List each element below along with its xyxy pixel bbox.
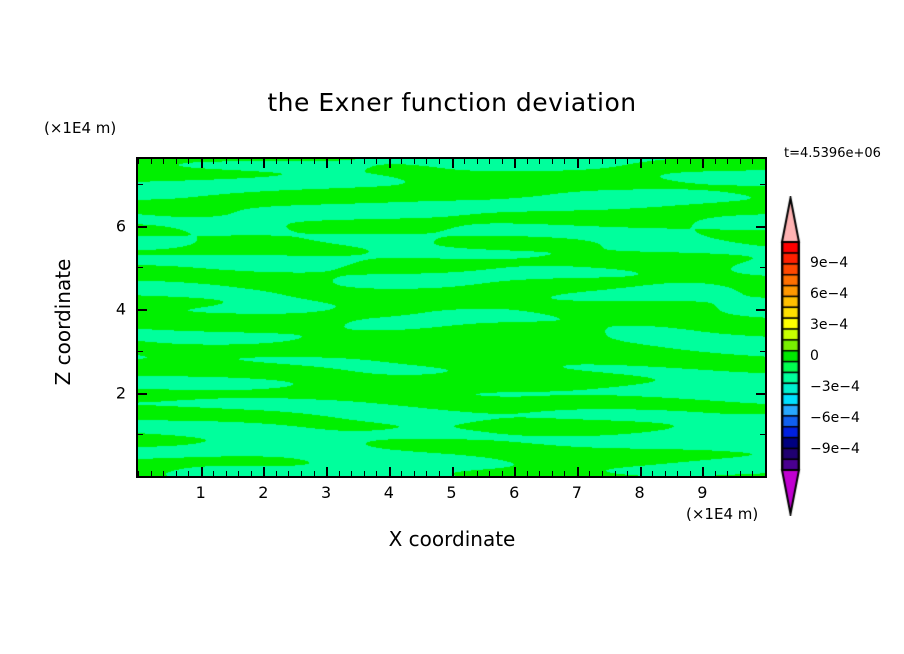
x-axis-top-minor-tick [665,159,666,164]
x-axis-top-major-tick [514,159,516,168]
x-axis-minor-tick [727,471,728,476]
y-axis-tick-label: 6 [100,216,126,235]
x-axis-top-minor-tick [652,159,653,164]
x-axis-major-tick [326,467,328,476]
x-axis-minor-tick [339,471,340,476]
y-axis-right-major-tick [756,393,765,395]
x-axis-top-minor-tick [226,159,227,164]
x-axis-minor-tick [602,471,603,476]
x-axis-top-major-tick [640,159,642,168]
x-axis-minor-tick [364,471,365,476]
y-axis-unit-label: (×1E4 m) [44,119,116,137]
x-axis-top-minor-tick [740,159,741,164]
x-axis-minor-tick [527,471,528,476]
x-axis-minor-tick [176,471,177,476]
x-axis-top-minor-tick [752,159,753,164]
y-axis-right-minor-tick [760,184,765,185]
colorbar [775,196,807,516]
x-axis-minor-tick [752,471,753,476]
x-axis-minor-tick [376,471,377,476]
x-axis-top-major-tick [263,159,265,168]
x-axis-top-minor-tick [564,159,565,164]
x-axis-minor-tick [615,471,616,476]
y-axis-title: Z coordinate [51,232,75,412]
x-axis-tick-label: 2 [258,483,268,502]
x-axis-minor-tick [715,471,716,476]
x-axis-top-minor-tick [288,159,289,164]
x-axis-minor-tick [665,471,666,476]
contour-plot-area [136,157,767,478]
x-axis-major-tick [201,467,203,476]
x-axis-tick-label: 1 [196,483,206,502]
x-axis-top-minor-tick [715,159,716,164]
x-axis-major-tick [577,467,579,476]
x-axis-unit-label: (×1E4 m) [686,505,758,523]
x-axis-minor-tick [552,471,553,476]
x-axis-minor-tick [627,471,628,476]
x-axis-tick-label: 7 [572,483,582,502]
x-axis-top-minor-tick [426,159,427,164]
x-axis-top-minor-tick [552,159,553,164]
x-axis-minor-tick [439,471,440,476]
x-axis-top-major-tick [326,159,328,168]
x-axis-minor-tick [589,471,590,476]
x-axis-top-minor-tick [602,159,603,164]
x-axis-top-minor-tick [213,159,214,164]
x-axis-top-minor-tick [527,159,528,164]
y-axis-right-minor-tick [760,351,765,352]
colorbar-tick-label: −9e−4 [810,441,860,457]
x-axis-tick-label: 8 [635,483,645,502]
x-axis-top-minor-tick [176,159,177,164]
x-axis-minor-tick [426,471,427,476]
x-axis-top-minor-tick [464,159,465,164]
x-axis-top-minor-tick [539,159,540,164]
x-axis-top-minor-tick [477,159,478,164]
x-axis-minor-tick [690,471,691,476]
x-axis-minor-tick [314,471,315,476]
x-axis-top-minor-tick [627,159,628,164]
x-axis-top-minor-tick [163,159,164,164]
x-axis-major-tick [702,467,704,476]
x-axis-top-minor-tick [376,159,377,164]
x-axis-minor-tick [464,471,465,476]
y-axis-right-minor-tick [760,267,765,268]
x-axis-top-major-tick [577,159,579,168]
x-axis-top-minor-tick [188,159,189,164]
x-axis-top-minor-tick [439,159,440,164]
x-axis-top-minor-tick [351,159,352,164]
colorbar-tick-label: 6e−4 [810,286,848,302]
x-axis-minor-tick [677,471,678,476]
x-axis-minor-tick [652,471,653,476]
x-axis-minor-tick [740,471,741,476]
y-axis-minor-tick [138,476,143,477]
page-title: the Exner function deviation [0,88,904,117]
x-axis-top-minor-tick [414,159,415,164]
colorbar-canvas [775,196,807,516]
y-axis-minor-tick [138,267,143,268]
colorbar-tick-label: 9e−4 [810,255,848,271]
x-axis-minor-tick [288,471,289,476]
x-axis-top-minor-tick [502,159,503,164]
x-axis-minor-tick [489,471,490,476]
x-axis-top-minor-tick [690,159,691,164]
x-axis-top-minor-tick [489,159,490,164]
x-axis-top-major-tick [201,159,203,168]
x-axis-minor-tick [301,471,302,476]
x-axis-tick-label: 4 [384,483,394,502]
x-axis-major-tick [389,467,391,476]
x-axis-minor-tick [477,471,478,476]
x-axis-top-major-tick [389,159,391,168]
x-axis-minor-tick [564,471,565,476]
x-axis-minor-tick [238,471,239,476]
x-axis-minor-tick [414,471,415,476]
colorbar-tick-label: −3e−4 [810,379,860,395]
x-axis-minor-tick [213,471,214,476]
y-axis-tick-label: 2 [100,383,126,402]
x-axis-major-tick [452,467,454,476]
x-axis-top-minor-tick [339,159,340,164]
x-axis-top-minor-tick [301,159,302,164]
x-axis-tick-label: 3 [321,483,331,502]
y-axis-minor-tick [138,434,143,435]
x-axis-top-minor-tick [314,159,315,164]
x-axis-major-tick [514,467,516,476]
x-axis-minor-tick [502,471,503,476]
x-axis-minor-tick [163,471,164,476]
y-axis-major-tick [138,309,147,311]
x-axis-top-minor-tick [151,159,152,164]
contour-field-canvas [138,159,765,476]
x-axis-minor-tick [401,471,402,476]
x-axis-top-minor-tick [589,159,590,164]
y-axis-major-tick [138,226,147,228]
y-axis-right-minor-tick [760,476,765,477]
y-axis-major-tick [138,393,147,395]
x-axis-minor-tick [765,471,766,476]
x-axis-tick-label: 6 [509,483,519,502]
x-axis-top-minor-tick [276,159,277,164]
x-axis-top-minor-tick [251,159,252,164]
x-axis-top-major-tick [452,159,454,168]
x-axis-top-minor-tick [765,159,766,164]
colorbar-tick-label: 0 [810,348,819,364]
x-axis-top-minor-tick [364,159,365,164]
x-axis-top-minor-tick [615,159,616,164]
timestamp-annotation: t=4.5396e+06 [784,146,881,161]
y-axis-minor-tick [138,351,143,352]
x-axis-minor-tick [351,471,352,476]
x-axis-tick-label: 9 [697,483,707,502]
x-axis-tick-label: 5 [446,483,456,502]
y-axis-minor-tick [138,184,143,185]
colorbar-tick-label: −6e−4 [810,410,860,426]
x-axis-major-tick [263,467,265,476]
colorbar-tick-label: 3e−4 [810,317,848,333]
x-axis-top-minor-tick [138,159,139,164]
x-axis-top-minor-tick [677,159,678,164]
x-axis-minor-tick [188,471,189,476]
x-axis-minor-tick [151,471,152,476]
y-axis-tick-label: 4 [100,300,126,319]
x-axis-major-tick [640,467,642,476]
x-axis-top-minor-tick [727,159,728,164]
x-axis-title: X coordinate [0,527,904,551]
y-axis-right-major-tick [756,309,765,311]
x-axis-minor-tick [539,471,540,476]
y-axis-right-minor-tick [760,434,765,435]
x-axis-minor-tick [226,471,227,476]
x-axis-top-major-tick [702,159,704,168]
x-axis-minor-tick [276,471,277,476]
x-axis-top-minor-tick [401,159,402,164]
x-axis-minor-tick [251,471,252,476]
y-axis-right-major-tick [756,226,765,228]
x-axis-top-minor-tick [238,159,239,164]
